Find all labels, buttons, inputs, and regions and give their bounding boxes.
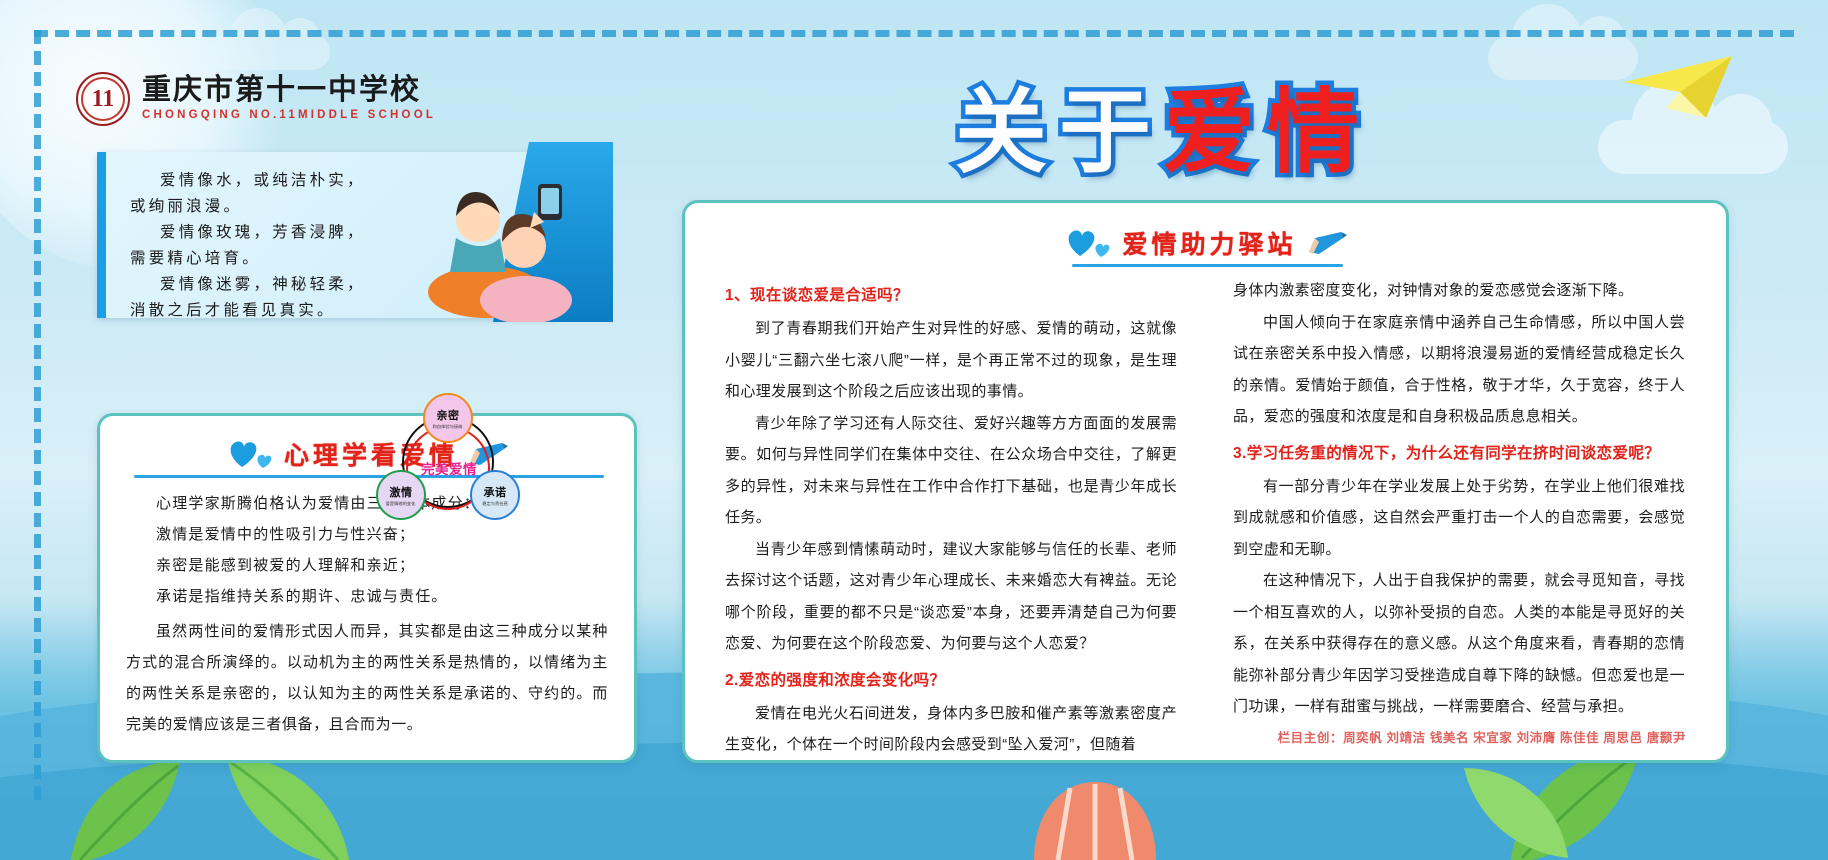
hearts-icon bbox=[226, 439, 274, 469]
shell-icon bbox=[1030, 778, 1160, 860]
question-heading: 1、现在谈恋爱是合适吗？ bbox=[725, 281, 1177, 311]
venn-node-intimacy: 亲密 和自体验与接纳 bbox=[423, 393, 473, 443]
venn-node-label: 激情 bbox=[390, 484, 413, 500]
dashed-border-top bbox=[34, 30, 1794, 37]
love-station-heading-text: 爱情助力驿站 bbox=[1122, 225, 1296, 261]
school-seal-icon: 11 bbox=[76, 72, 130, 126]
body-paragraph: 有一部分青少年在学业发展上处于劣势，在学业上他们很难找到成就感和价值感，这自然会… bbox=[1233, 471, 1685, 566]
cloud-icon bbox=[1598, 120, 1788, 174]
body-paragraph: 青少年除了学习还有人际交往、爱好兴趣等方方面面的发展需要。如何与异性同学们在集体… bbox=[725, 408, 1177, 534]
school-logo: 11 重庆市第十一中学校 CHONGQING NO.11MIDDLE SCHOO… bbox=[76, 72, 436, 126]
love-station-heading: 爱情助力驿站 bbox=[1064, 225, 1346, 265]
psychology-bullet: 亲密是能感到被爱的人理解和亲近； bbox=[126, 550, 608, 581]
question-heading: 2.爱恋的强度和浓度会变化吗？ bbox=[725, 666, 1177, 696]
cloud-icon bbox=[210, 34, 330, 70]
venn-center-label: 完美爱情 bbox=[410, 458, 488, 478]
body-paragraph: 中国人倾向于在家庭亲情中涵养自己生命情感，所以中国人尝试在亲密关系中投入情感，以… bbox=[1233, 307, 1685, 433]
cloud-icon bbox=[1488, 36, 1638, 80]
content-column-left: 1、现在谈恋爱是合适吗？ 到了青春期我们开始产生对异性的好感、爱情的萌动，这就像… bbox=[725, 275, 1177, 761]
body-paragraph: 在这种情况下，人出于自我保护的需要，就会寻觅知音，寻找一个相互喜欢的人，以弥补受… bbox=[1233, 565, 1685, 723]
body-paragraph: 身体内激素密度变化，对钟情对象的爱恋感觉会逐渐下降。 bbox=[1233, 275, 1685, 307]
pencil-icon bbox=[1307, 230, 1347, 256]
psychology-paragraph: 虽然两性间的爱情形式因人而异，其实都是由这三种成分以某种方式的混合所演绎的。以动… bbox=[126, 616, 608, 740]
venn-node-sub: 和自体验与接纳 bbox=[433, 423, 463, 429]
venn-node-sub: 稳定与责任感 bbox=[482, 500, 508, 506]
content-column-right: 身体内激素密度变化，对钟情对象的爱恋感觉会逐渐下降。 中国人倾向于在家庭亲情中涵… bbox=[1233, 275, 1685, 761]
venn-node-sub: 爱是情绪的变化 bbox=[386, 500, 416, 506]
couple-illustration-icon bbox=[398, 142, 603, 322]
love-triangle-venn: 亲密 和自体验与接纳 激情 爱是情绪的变化 承诺 稳定与责任感 完美爱情 bbox=[358, 388, 538, 518]
paper-plane-icon bbox=[1620, 52, 1738, 126]
page-title: 关于爱情 bbox=[955, 58, 1371, 191]
venn-node-label: 亲密 bbox=[437, 407, 460, 423]
leaf-icon bbox=[160, 748, 360, 860]
page-title-part-2: 爱情 bbox=[1163, 82, 1371, 184]
school-name-en: CHONGQING NO.11MIDDLE SCHOOL bbox=[142, 110, 436, 122]
hearts-icon bbox=[1064, 228, 1112, 258]
credits-line: 栏目主创：周奕帆 刘靖洁 钱美名 宋宜家 刘沛膺 陈佳佳 周思邑 唐颢尹 bbox=[1278, 727, 1686, 746]
love-station-panel: 爱情助力驿站 1、现在谈恋爱是合适吗？ 到了青春期我们开始产生对异性的好感、爱情… bbox=[682, 200, 1729, 763]
body-paragraph: 到了青春期我们开始产生对异性的好感、爱情的萌动，这就像小婴儿“三翻六坐七滚八爬”… bbox=[725, 313, 1177, 408]
page-title-part-1: 关于 bbox=[955, 82, 1163, 184]
leaf-icon bbox=[1408, 760, 1578, 860]
school-name-cn: 重庆市第十一中学校 bbox=[142, 76, 436, 105]
poster-canvas: 11 重庆市第十一中学校 CHONGQING NO.11MIDDLE SCHOO… bbox=[0, 0, 1828, 860]
heading-underline bbox=[1072, 264, 1342, 267]
psychology-bullet: 承诺是指维持关系的期许、忠诚与责任。 bbox=[126, 581, 608, 612]
dashed-border-left bbox=[34, 30, 41, 800]
body-paragraph: 爱情在电光火石间迸发，身体内多巴胺和催产素等激素密度产生变化，个体在一个时间阶段… bbox=[725, 698, 1177, 761]
body-paragraph: 当青少年感到情愫萌动时，建议大家能够与信任的长辈、老师去探讨这个话题，这对青少年… bbox=[725, 534, 1177, 660]
venn-node-label: 承诺 bbox=[484, 484, 507, 500]
question-heading: 3.学习任务重的情况下，为什么还有同学在挤时间谈恋爱呢？ bbox=[1233, 439, 1685, 469]
psychology-bullet: 激情是爱情中的性吸引力与性兴奋； bbox=[126, 519, 608, 550]
couple-photo bbox=[398, 142, 603, 322]
